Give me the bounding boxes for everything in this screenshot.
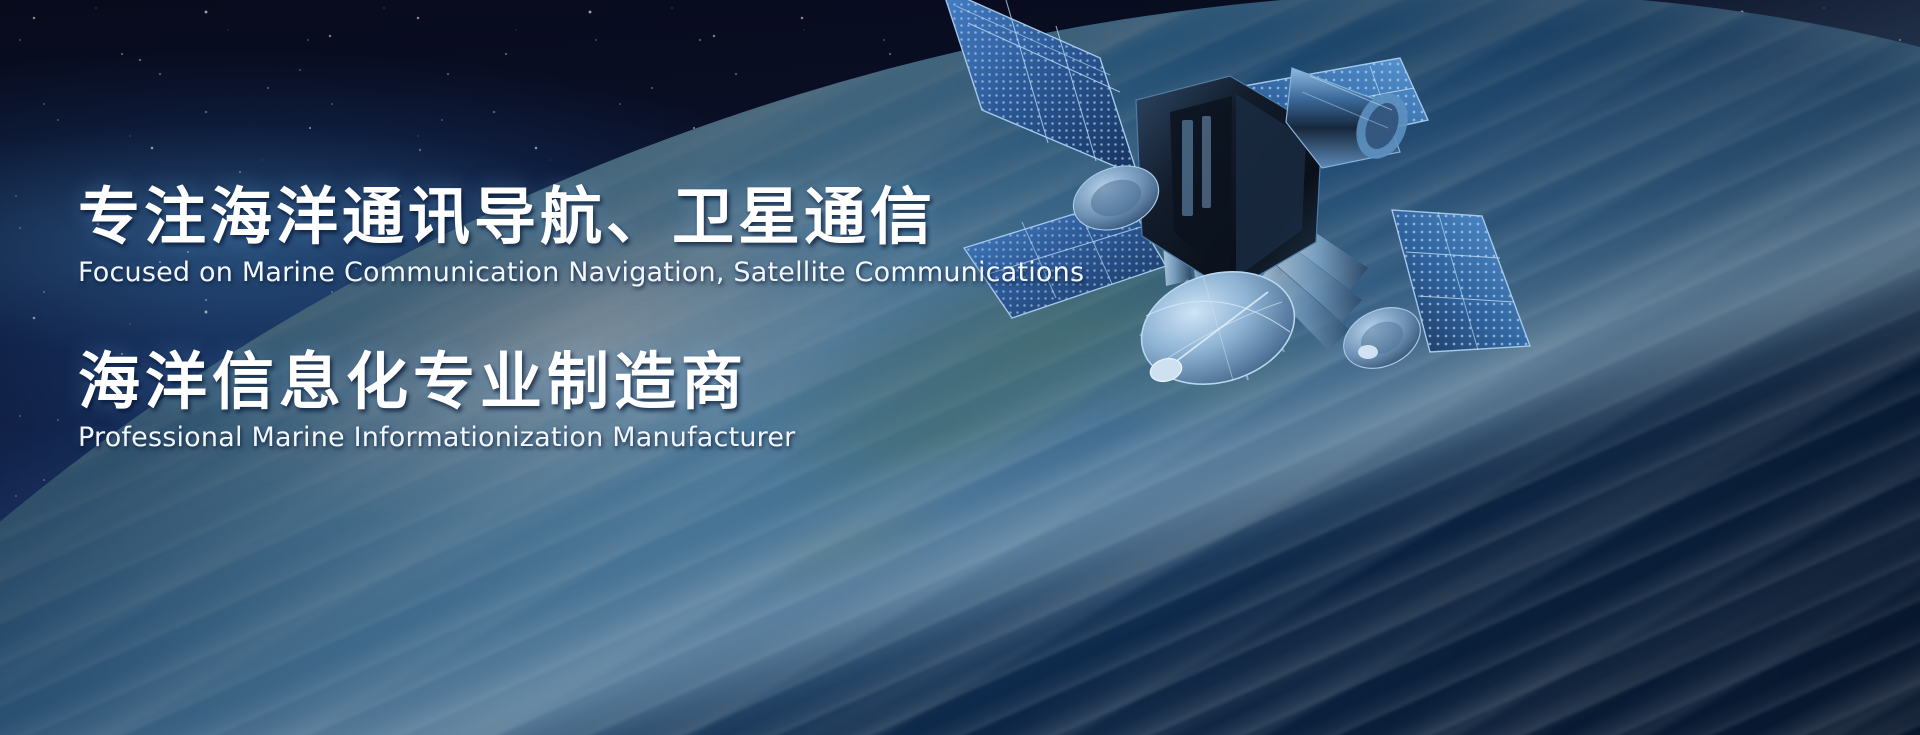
subline-secondary-en: Professional Marine Informationization M…: [78, 423, 1078, 453]
headline-secondary-cn: 海洋信息化专业制造商: [78, 351, 1078, 413]
banner-copy: 专注海洋通讯导航、卫星通信 Focused on Marine Communic…: [78, 186, 1078, 453]
headline-block-secondary: 海洋信息化专业制造商 Professional Marine Informati…: [78, 351, 1078, 453]
subline-primary-en: Focused on Marine Communication Navigati…: [78, 258, 1078, 288]
hero-banner: 专注海洋通讯导航、卫星通信 Focused on Marine Communic…: [0, 0, 1920, 735]
headline-primary-cn: 专注海洋通讯导航、卫星通信: [78, 186, 1078, 248]
headline-block-primary: 专注海洋通讯导航、卫星通信 Focused on Marine Communic…: [78, 186, 1078, 288]
